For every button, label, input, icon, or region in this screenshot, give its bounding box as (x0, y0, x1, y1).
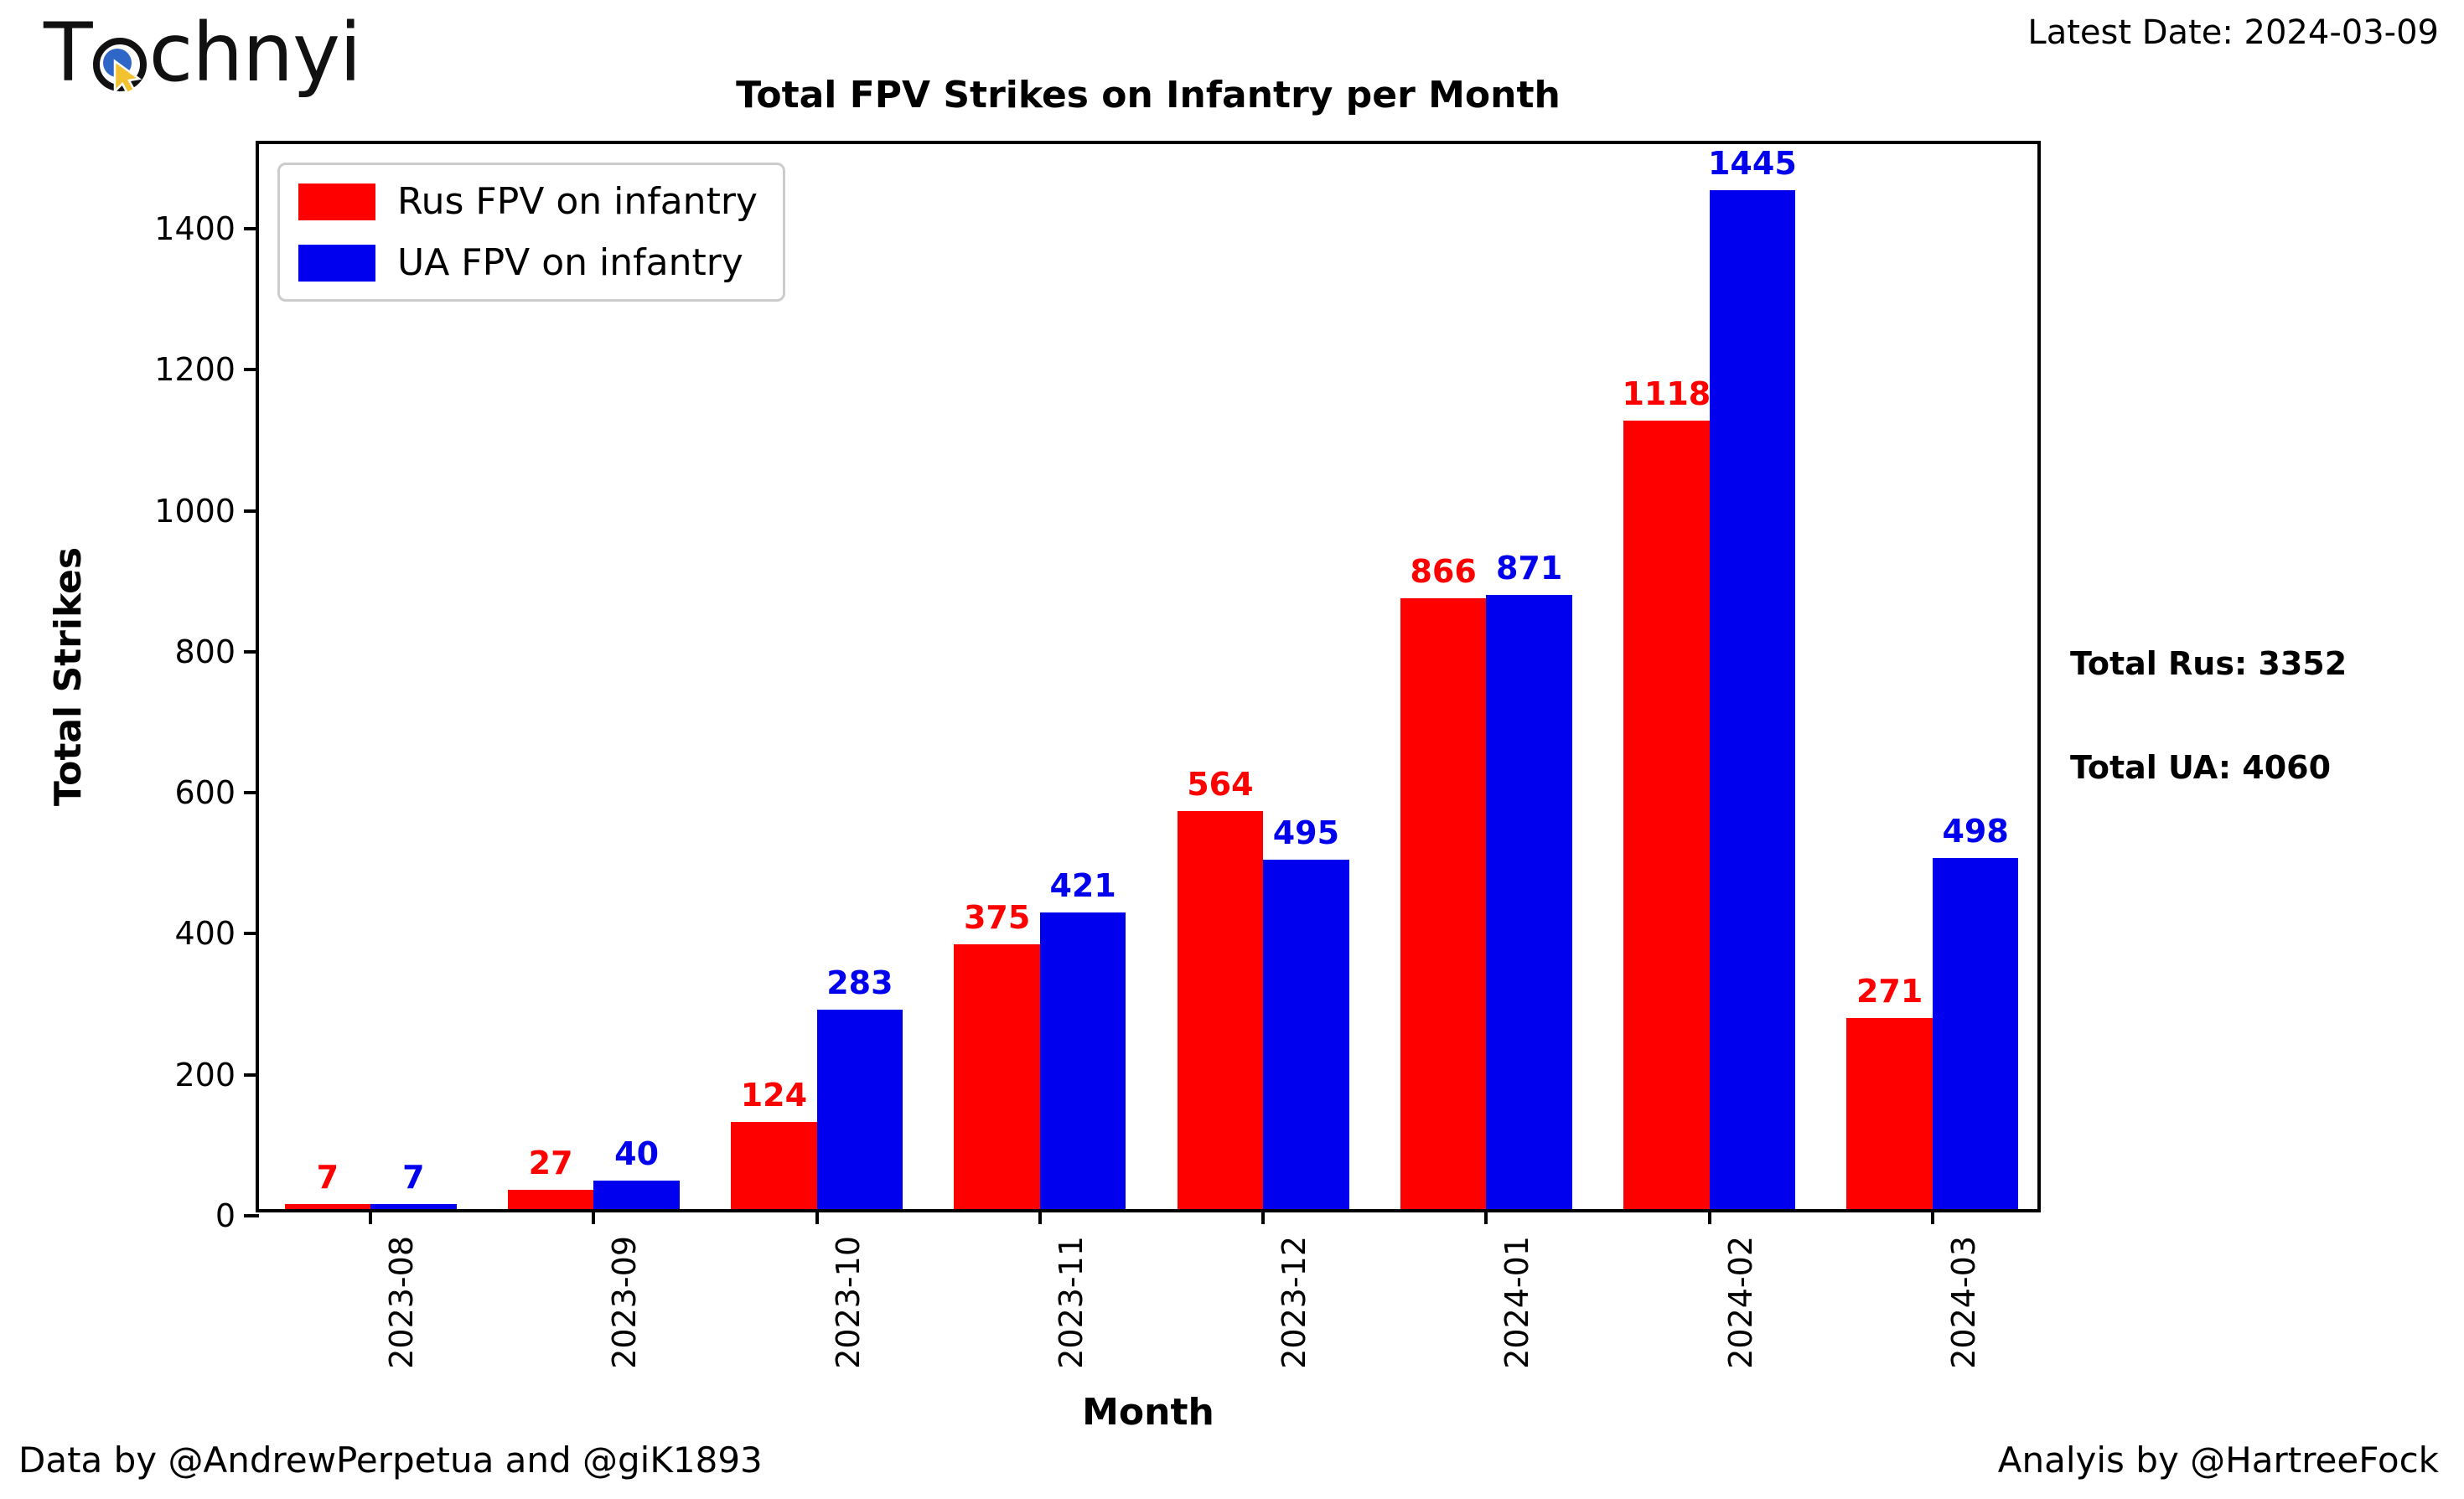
bar-ua-2023-10[interactable] (817, 1010, 903, 1209)
bar-value-label: 124 (741, 1077, 807, 1114)
x-axis-tick-label: 2024-02 (1722, 1236, 1759, 1369)
bar-rus-2023-10[interactable] (731, 1122, 817, 1209)
y-axis-label: Total Strikes (44, 141, 94, 1212)
legend-label-ua: UA FPV on infantry (397, 241, 743, 284)
x-axis-tick-mark (1484, 1209, 1488, 1224)
y-axis-tick-mark (244, 227, 259, 230)
bar-rus-2024-02[interactable] (1623, 421, 1710, 1209)
bar-value-label: 564 (1187, 766, 1253, 803)
y-axis-tick-mark (244, 509, 259, 513)
bar-ua-2024-02[interactable] (1710, 190, 1796, 1209)
x-axis-tick-label: 2023-12 (1276, 1236, 1312, 1369)
bar-value-label: 27 (529, 1145, 573, 1181)
x-axis-tick-mark (1708, 1209, 1711, 1224)
totals-block: Total Rus: 3352 Total UA: 4060 (2070, 645, 2456, 853)
chart-page: Tchnyi Latest Date: 2024-03-09 Total FPV… (0, 0, 2464, 1499)
y-axis-tick-mark (244, 368, 259, 371)
total-ua-label: Total UA: 4060 (2070, 749, 2456, 786)
plot-inner: 0200400600800100012001400772740124283375… (259, 144, 2037, 1209)
y-axis-tick-mark (244, 1214, 259, 1217)
footer-data-credit: Data by @AndrewPerpetua and @giK1893 (18, 1440, 763, 1481)
plot-area: 0200400600800100012001400772740124283375… (256, 141, 2041, 1212)
x-axis-tick-mark (1038, 1209, 1042, 1224)
bar-rus-2023-09[interactable] (508, 1190, 594, 1209)
x-axis-tick-mark (815, 1209, 819, 1224)
bar-ua-2023-09[interactable] (593, 1181, 680, 1209)
x-axis-label: Month (256, 1391, 2041, 1434)
y-axis-tick-mark (244, 932, 259, 935)
bar-ua-2024-01[interactable] (1486, 595, 1572, 1209)
bar-value-label: 7 (317, 1159, 339, 1196)
x-axis-tick-label: 2023-10 (830, 1236, 867, 1369)
total-rus-label: Total Rus: 3352 (2070, 645, 2456, 682)
y-axis-tick-mark (244, 650, 259, 654)
latest-date-label: Latest Date: 2024-03-09 (2027, 13, 2439, 52)
x-axis-tick-label: 2023-09 (606, 1236, 643, 1369)
bar-ua-2024-03[interactable] (1933, 858, 2019, 1209)
bar-value-label: 271 (1856, 973, 1923, 1010)
y-axis-label-text: Total Strikes (48, 547, 91, 806)
bar-value-label: 495 (1273, 814, 1339, 851)
chart-title: Total FPV Strikes on Infantry per Month (256, 74, 2041, 116)
bar-value-label: 7 (402, 1159, 424, 1196)
cursor-click-icon (92, 13, 149, 93)
legend-swatch-ua (298, 245, 375, 282)
footer-analysis-credit: Analyis by @HartreeFock (1998, 1440, 2439, 1481)
legend-item-rus[interactable]: Rus FPV on infantry (298, 180, 758, 223)
brand-prefix: T (44, 13, 92, 93)
bar-rus-2023-08[interactable] (285, 1204, 371, 1209)
bar-value-label: 283 (826, 964, 893, 1001)
bar-rus-2024-01[interactable] (1400, 598, 1487, 1209)
bar-value-label: 871 (1496, 550, 1562, 587)
chart-legend: Rus FPV on infantry UA FPV on infantry (277, 163, 785, 302)
bar-value-label: 375 (964, 899, 1030, 936)
x-axis-tick-mark (1261, 1209, 1265, 1224)
y-axis-tick-mark (244, 1073, 259, 1077)
bar-value-label: 498 (1942, 813, 2008, 850)
x-axis-tick-mark (369, 1209, 372, 1224)
bar-value-label: 1118 (1622, 375, 1711, 412)
bar-rus-2023-12[interactable] (1178, 811, 1264, 1209)
bar-value-label: 40 (614, 1135, 659, 1172)
bar-ua-2023-11[interactable] (1040, 912, 1126, 1209)
x-axis-tick-label: 2024-01 (1499, 1236, 1535, 1369)
x-axis-tick-mark (1931, 1209, 1934, 1224)
legend-item-ua[interactable]: UA FPV on infantry (298, 241, 758, 284)
bar-value-label: 866 (1410, 553, 1476, 590)
x-axis-tick-label: 2024-03 (1945, 1236, 1982, 1369)
legend-label-rus: Rus FPV on infantry (397, 180, 758, 223)
y-axis-tick-mark (244, 791, 259, 794)
x-axis-tick-label: 2023-08 (383, 1236, 420, 1369)
bar-ua-2023-12[interactable] (1263, 860, 1349, 1209)
bar-rus-2024-03[interactable] (1846, 1018, 1933, 1209)
bar-value-label: 1445 (1708, 145, 1797, 182)
legend-swatch-rus (298, 183, 375, 220)
x-axis-tick-label: 2023-11 (1053, 1236, 1090, 1369)
bar-rus-2023-11[interactable] (954, 944, 1040, 1209)
bar-ua-2023-08[interactable] (370, 1204, 457, 1209)
x-axis-tick-mark (592, 1209, 595, 1224)
bar-value-label: 421 (1049, 867, 1116, 904)
